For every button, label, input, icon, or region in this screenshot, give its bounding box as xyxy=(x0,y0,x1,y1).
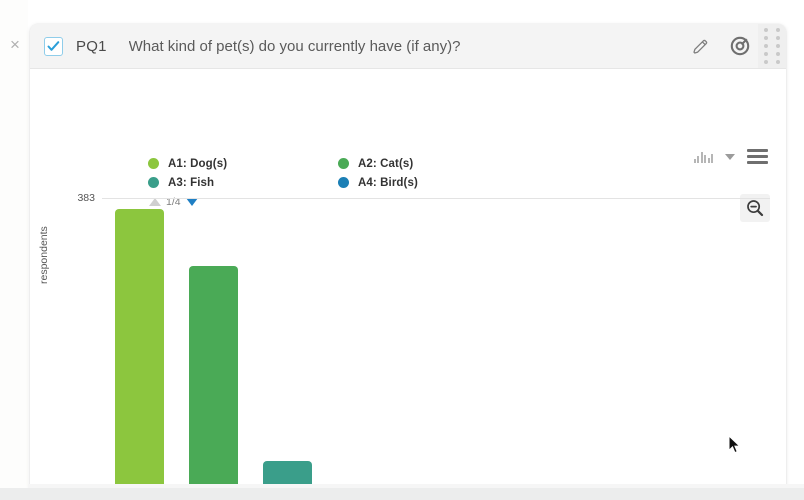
y-axis-tick-max: 383 xyxy=(77,192,95,204)
check-icon xyxy=(47,40,60,53)
header-actions xyxy=(688,34,752,58)
close-question-button[interactable]: × xyxy=(6,36,24,54)
drag-handle-icon xyxy=(764,28,781,64)
edit-question-button[interactable] xyxy=(688,34,712,58)
drag-handle[interactable] xyxy=(758,24,786,68)
y-axis-title: respondents xyxy=(38,226,50,284)
app-screen: × PQ1 What kind of pet(s) do you current… xyxy=(0,0,804,500)
y-gridline-max xyxy=(102,198,770,199)
chart-panel: A1: Dog(s) A2: Cat(s) A3: Fish A4: Bird(… xyxy=(30,69,786,488)
question-settings-button[interactable] xyxy=(728,34,752,58)
question-id-label: PQ1 xyxy=(76,38,107,55)
question-card: PQ1 What kind of pet(s) do you currently… xyxy=(30,24,786,488)
chart-bar[interactable] xyxy=(115,209,164,488)
question-card-header: PQ1 What kind of pet(s) do you currently… xyxy=(30,24,786,69)
target-icon xyxy=(729,35,751,57)
chart-plot-area: respondents 3830Dog(s)Cat(s)FishBird(s)R… xyxy=(30,69,786,488)
question-title: What kind of pet(s) do you currently hav… xyxy=(129,38,688,55)
question-select-checkbox[interactable] xyxy=(44,37,63,56)
page-bottom-strip xyxy=(0,488,804,500)
chart-bar[interactable] xyxy=(189,266,238,488)
pencil-icon xyxy=(691,37,710,56)
left-gutter xyxy=(0,0,28,500)
